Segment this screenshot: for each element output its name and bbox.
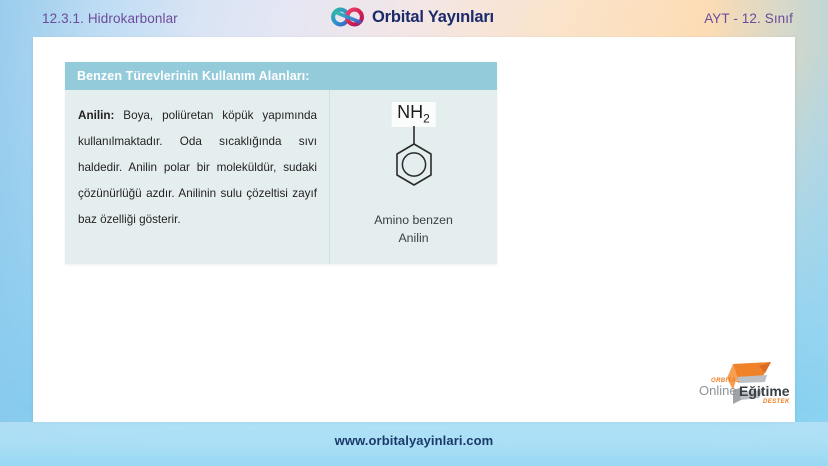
footer-website: www.orbitalyayinlari.com <box>0 433 828 448</box>
content-box-body: Anilin: Boya, poliüretan köpük yapımında… <box>65 90 497 264</box>
footer-strip: www.orbitalyayinlari.com <box>0 422 828 466</box>
orbital-infinity-logo-icon <box>331 6 365 28</box>
term-description: Boya, poliüretan köpük yapımında kullanı… <box>78 109 317 226</box>
svg-text:Online: Online <box>699 383 737 398</box>
content-box-title: Benzen Türevlerinin Kullanım Alanları: <box>65 62 497 90</box>
brand-name-text: Orbital Yayınları <box>372 8 494 27</box>
amine-group-subscript: 2 <box>423 112 430 126</box>
amine-group-text: NH <box>397 102 423 122</box>
header-exam-level: AYT - 12. Sınıf <box>704 11 793 26</box>
description-paragraph: Anilin: Boya, poliüretan köpük yapımında… <box>78 103 317 233</box>
molecule-figure: NH2 <box>369 102 459 207</box>
molecule-column: NH2 Amino benzen Anilin <box>330 90 497 264</box>
orbital-online-egitime-destek-logo-icon: ORBITAL Online Eğitime DESTEK <box>697 360 793 408</box>
header-lesson-code: 12.3.1. Hidrokarbonlar <box>42 11 178 26</box>
molecule-caption: Amino benzen Anilin <box>374 211 453 247</box>
slide-root: 12.3.1. Hidrokarbonlar <box>0 0 828 466</box>
svg-text:Eğitime: Eğitime <box>739 383 790 399</box>
molecule-caption-line2: Anilin <box>374 229 453 247</box>
svg-text:DESTEK: DESTEK <box>763 399 790 405</box>
slide-header: 12.3.1. Hidrokarbonlar <box>0 0 828 36</box>
content-box: Benzen Türevlerinin Kullanım Alanları: A… <box>65 62 497 264</box>
amine-group-label: NH2 <box>391 102 436 127</box>
benzene-ring-icon <box>386 126 442 208</box>
brand-logo: Orbital Yayınları <box>331 6 494 28</box>
molecule-caption-line1: Amino benzen <box>374 211 453 229</box>
description-column: Anilin: Boya, poliüretan köpük yapımında… <box>65 90 330 264</box>
term-label: Anilin: <box>78 109 114 122</box>
